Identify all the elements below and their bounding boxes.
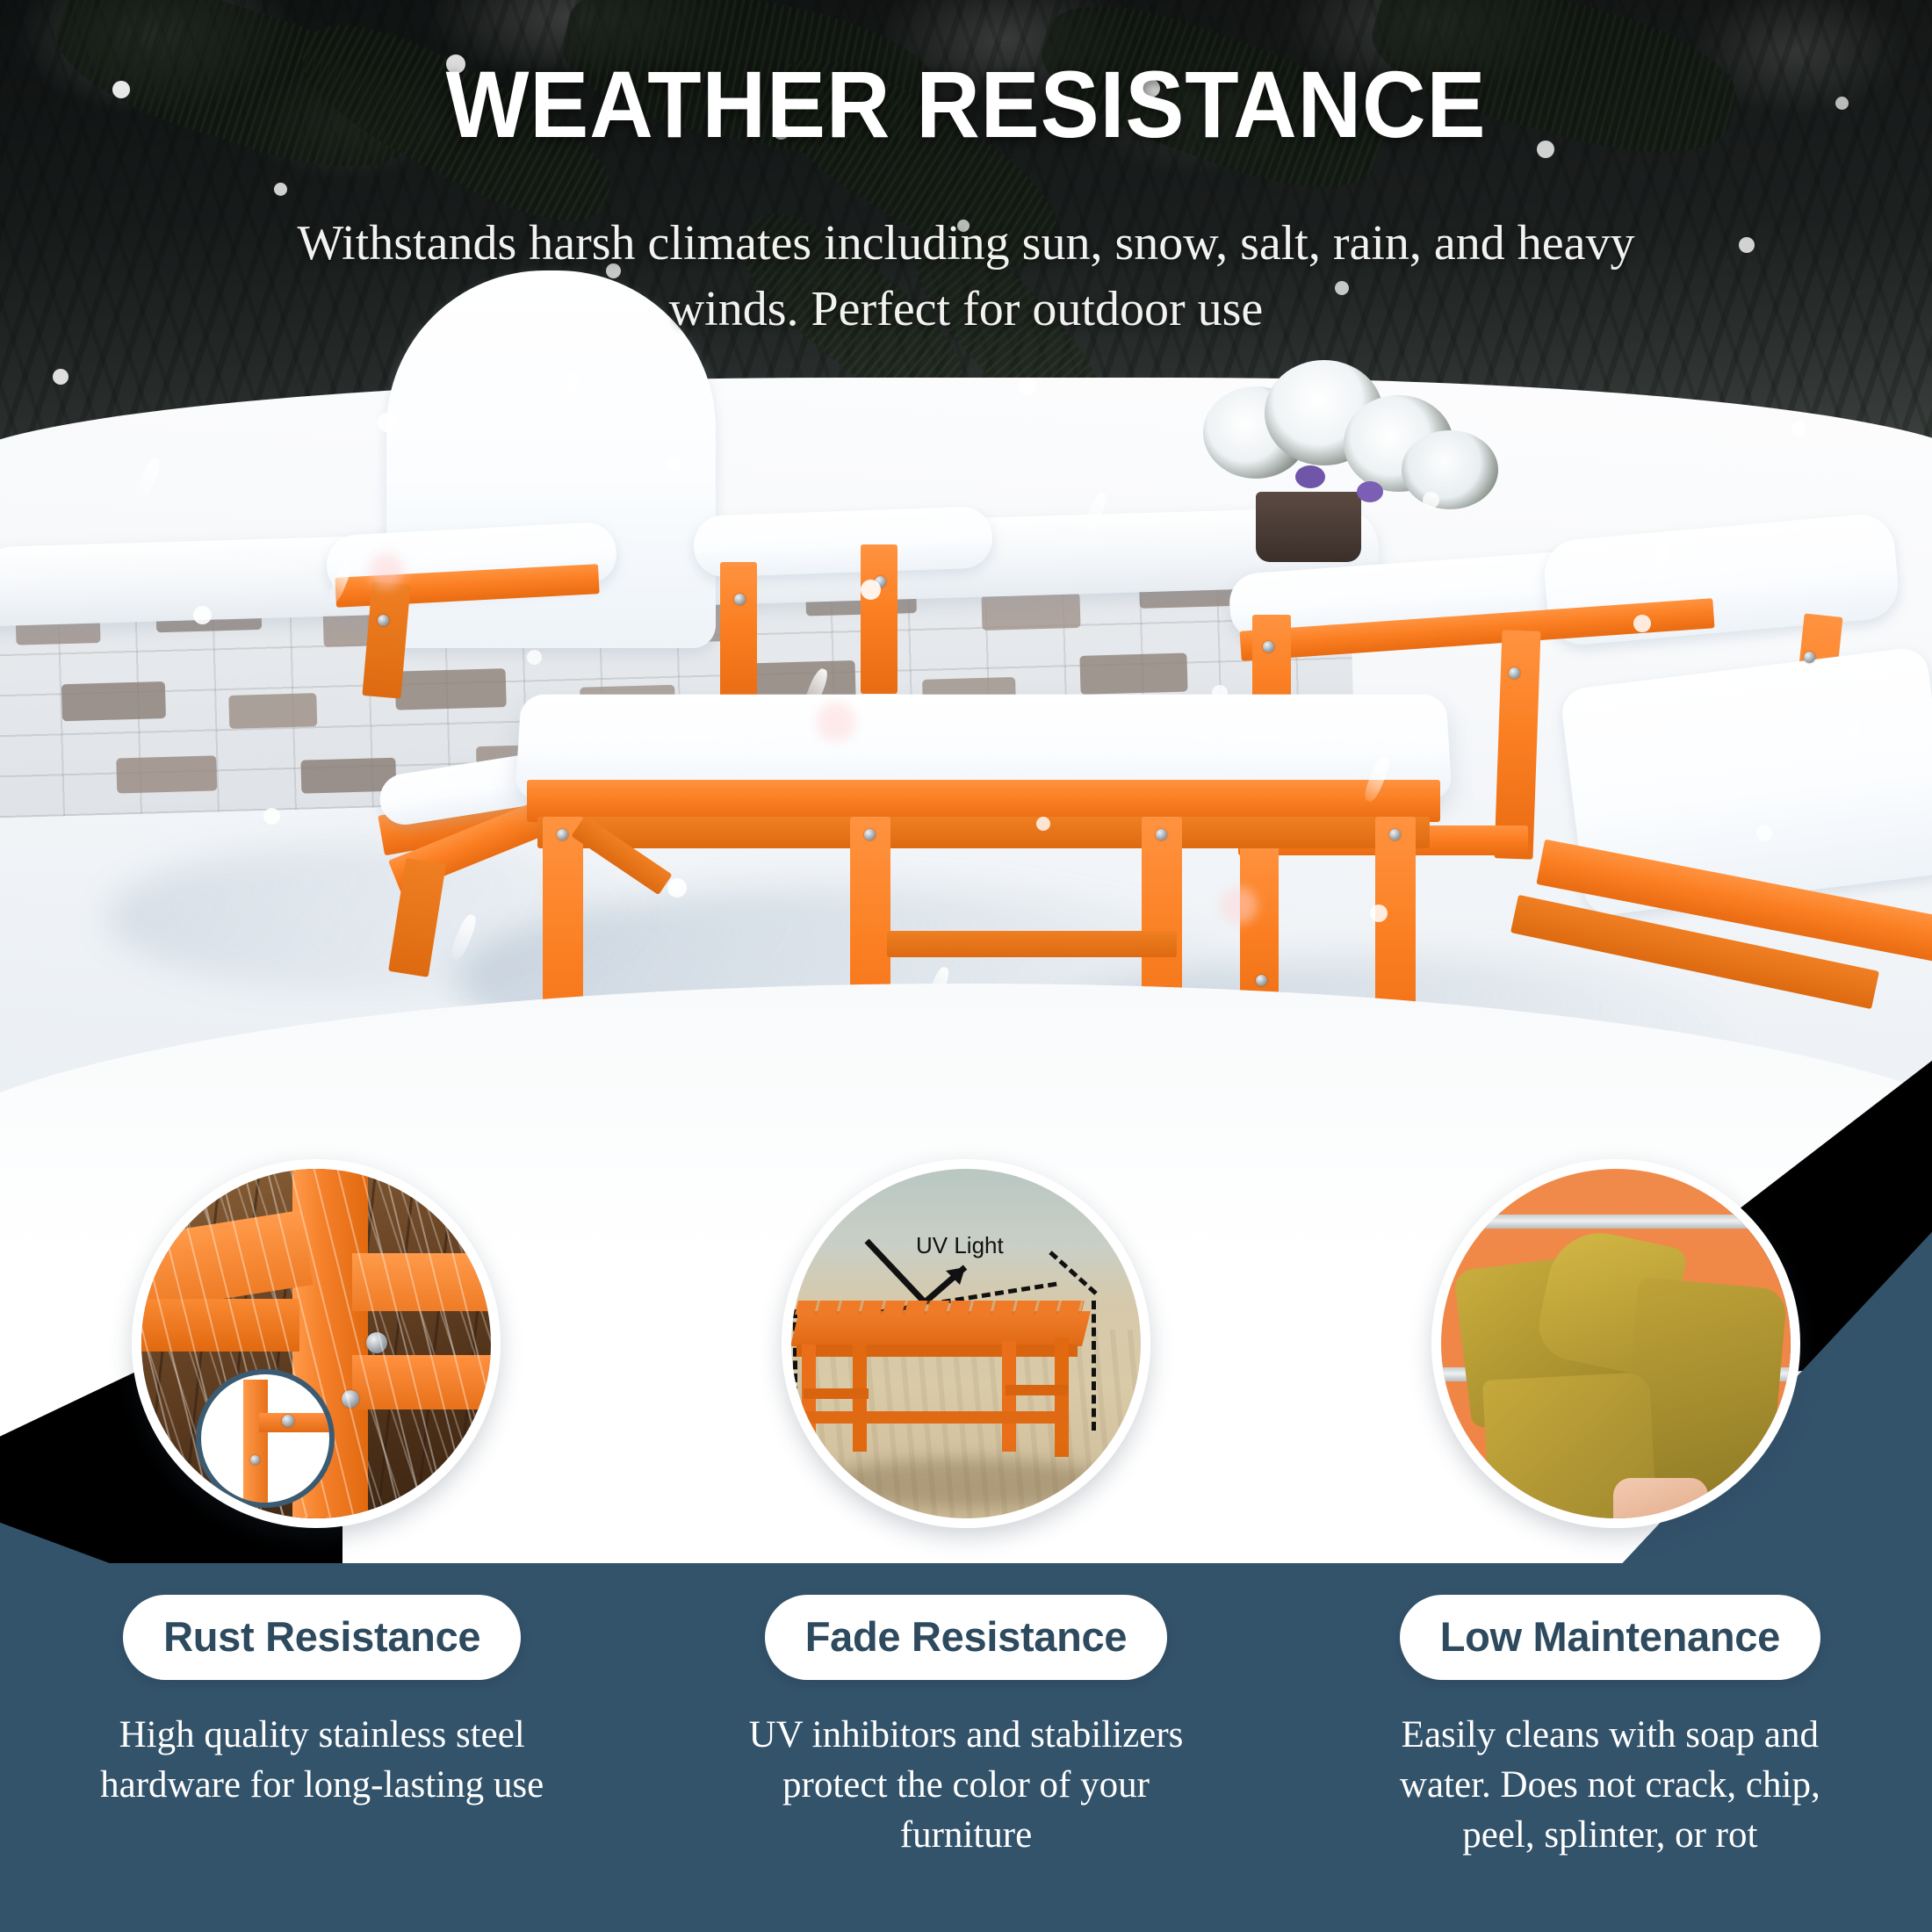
feature-description-fade-resistance: UV inhibitors and stabilizers protect th… — [720, 1710, 1212, 1861]
table-brace — [887, 931, 1177, 957]
uv-outline-dash-right — [1092, 1301, 1096, 1431]
fade-resistance-inset: UV Light — [782, 1159, 1150, 1528]
flower-pot — [1256, 492, 1361, 562]
table-apron — [537, 817, 1430, 848]
feature-description-low-maintenance: Easily cleans with soap and water. Does … — [1364, 1710, 1856, 1861]
chair-front-leg — [720, 562, 757, 703]
features-list: Rust Resistance High quality stainless s… — [0, 1563, 1932, 1932]
feature-card-low-maintenance: Low Maintenance Easily cleans with soap … — [1288, 1563, 1932, 1932]
feature-badge-low-maintenance: Low Maintenance — [1400, 1595, 1820, 1680]
joint-magnifier-circle — [196, 1369, 335, 1508]
rust-resistance-inset — [132, 1159, 501, 1528]
slat-gap — [1441, 1215, 1791, 1229]
feature-badge-fade-resistance: Fade Resistance — [765, 1595, 1167, 1680]
purple-flower-icon — [1295, 465, 1325, 488]
snowy-plant — [1402, 430, 1498, 509]
bench-shadow — [818, 1459, 1116, 1508]
table-top-edge — [527, 780, 1440, 822]
feature-card-fade-resistance: Fade Resistance UV inhibitors and stabil… — [644, 1563, 1287, 1932]
feature-description-rust-resistance: High quality stainless steel hardware fo… — [76, 1710, 568, 1810]
chair-back-slat — [861, 544, 898, 694]
page-title: WEATHER RESISTANCE — [68, 54, 1864, 155]
purple-flower-icon — [1357, 481, 1383, 502]
feature-badge-rust-resistance: Rust Resistance — [123, 1595, 521, 1680]
low-maintenance-inset — [1431, 1159, 1800, 1528]
feature-card-rust-resistance: Rust Resistance High quality stainless s… — [0, 1563, 644, 1932]
weather-resistance-infographic: WEATHER RESISTANCE Withstands harsh clim… — [0, 0, 1932, 1932]
page-subtitle: Withstands harsh climates including sun,… — [246, 211, 1686, 342]
